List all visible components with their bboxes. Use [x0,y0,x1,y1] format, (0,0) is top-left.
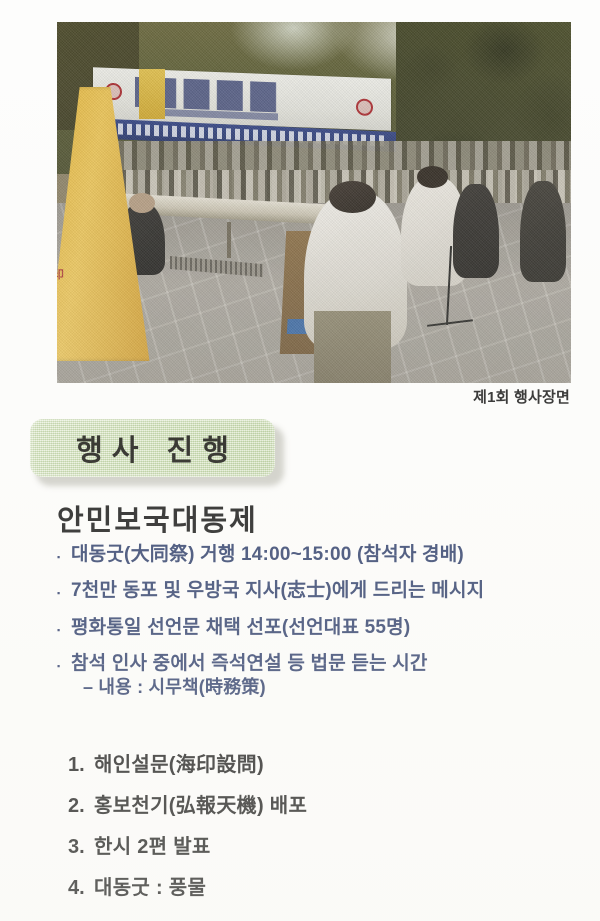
photo-standing-person-dark [453,184,499,278]
photo-foreground-person-head [329,181,375,213]
list-item: ▪ 대동굿(大同祭) 거행 14:00~15:00 (참석자 경배) [57,543,577,567]
list-item-body: 참석 인사 중에서 즉석연설 등 법문 듣는 시간 – 내용 : 시무책(時務策… [71,652,577,700]
square-bullet-icon: ▪ [57,626,67,635]
photo-canvas: 印 [57,22,571,383]
event-photograph: 印 [57,22,571,383]
list-item-label: 해인설문(海印設問) [94,748,264,777]
photo-caption: 제1회 행사장면 [473,386,570,407]
list-item-label: 대동굿 : 풍물 [94,871,206,900]
photo-standing-person-head [417,166,448,188]
table-row: 2. 홍보천기(弘報天機) 배포 [68,789,528,818]
list-item-subnote: – 내용 : 시무책(時務策) [71,676,577,699]
list-item-label: 7천만 동포 및 우방국 지사(志士)에게 드리는 메시지 [71,579,577,603]
photo-foreground-person-legs [314,311,391,383]
list-item-index: 3. [68,836,94,859]
list-item-index: 4. [68,877,94,900]
photo-seated-official-head [129,193,155,213]
photo-standing-person-dark [520,181,566,282]
list-item-label: 대동굿(大同祭) 거행 14:00~15:00 (참석자 경배) [71,543,577,567]
section-plate-label: 행사 진행 [67,427,238,469]
list-item: ▪ 7천만 동포 및 우방국 지사(志士)에게 드리는 메시지 [57,579,577,603]
table-row: 1. 해인설문(海印設問) [68,748,528,777]
list-item-label: 한시 2편 발표 [94,830,211,859]
page-root: { "photo": { "alt_name": "first-event-sc… [0,0,600,921]
square-bullet-icon: ▪ [57,553,67,562]
section-plate-body: 행사 진행 [30,419,275,477]
list-item-label: 참석 인사 중에서 즉석연설 등 법문 듣는 시간 [71,652,577,676]
program-numbered-list: 1. 해인설문(海印設問) 2. 홍보천기(弘報天機) 배포 3. 한시 2편 … [68,748,528,912]
list-item-index: 1. [68,754,94,777]
square-bullet-icon: ▪ [57,589,67,598]
list-item-body: 7천만 동포 및 우방국 지사(志士)에게 드리는 메시지 [71,579,577,603]
photo-table-leg [227,222,231,258]
list-item-body: 대동굿(大同祭) 거행 14:00~15:00 (참석자 경배) [71,543,577,567]
photo-small-yellow-banner [139,69,165,120]
square-bullet-icon: ▪ [57,662,67,671]
section-plate: 행사 진행 [30,419,280,483]
list-item-body: 평화통일 선언문 채택 선포(선언대표 55명) [71,616,577,640]
red-seal-right-icon [356,98,373,116]
table-row: 3. 한시 2편 발표 [68,830,528,859]
page-title: 안민보국대동제 [57,497,258,539]
photo-flag-inscription: 印 [57,268,67,282]
list-item-label: 홍보천기(弘報天機) 배포 [94,789,307,818]
list-item: ▪ 참석 인사 중에서 즉석연설 등 법문 듣는 시간 – 내용 : 시무책(時… [57,652,577,700]
table-row: 4. 대동굿 : 풍물 [68,871,528,900]
list-item: ▪ 평화통일 선언문 채택 선포(선언대표 55명) [57,616,577,640]
list-item-label: 평화통일 선언문 채택 선포(선언대표 55명) [71,616,577,640]
program-bullet-list: ▪ 대동굿(大同祭) 거행 14:00~15:00 (참석자 경배) ▪ 7천만… [57,543,577,712]
list-item-index: 2. [68,795,94,818]
